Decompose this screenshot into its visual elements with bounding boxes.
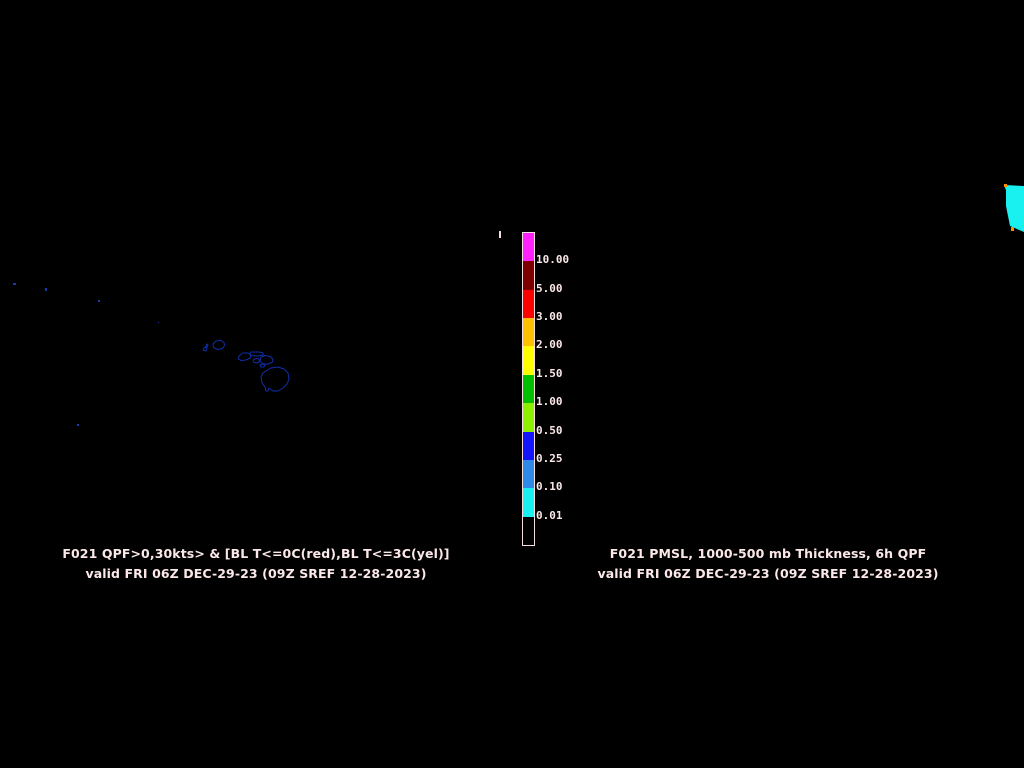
coastline-map-left [0,0,512,768]
colorbar-tick-3.00: 3.00 [536,311,563,322]
colorbar-band-0.25 [523,432,534,460]
colorbar-tick-0.01: 0.01 [536,510,563,521]
caption-left-line1: F021 QPF>0,30kts> & [BL T<=0C(red),BL T<… [0,544,512,564]
colorbar-tick-0.10: 0.10 [536,481,563,492]
colorbar-tick-0.50: 0.50 [536,425,563,436]
caption-right: F021 PMSL, 1000-500 mb Thickness, 6h QPF… [512,544,1024,584]
colorbar-band-1.50 [523,346,534,374]
caption-right-line1: F021 PMSL, 1000-500 mb Thickness, 6h QPF [512,544,1024,564]
colorbar-tick-labels: 10.005.003.002.001.501.000.500.250.100.0… [536,232,636,546]
caption-left-line2: valid FRI 06Z DEC-29-23 (09Z SREF 12-28-… [0,564,512,584]
colorbar-band-0.10 [523,460,534,488]
colorbar-band-1.00 [523,375,534,403]
caption-right-line2: valid FRI 06Z DEC-29-23 (09Z SREF 12-28-… [512,564,1024,584]
colorbar-band-10.00 [523,233,534,261]
islet-dots-left [13,283,159,426]
colorbar-tick-5.00: 5.00 [536,283,563,294]
colorbar-top-tick [499,231,501,238]
colorbar-band-below-threshold [523,517,534,545]
colorbar-band-2.00 [523,318,534,346]
colorbar-bands[interactable] [522,232,535,546]
qpf-colorbar[interactable]: 10.005.003.002.001.501.000.500.250.100.0… [522,232,642,548]
caption-left: F021 QPF>0,30kts> & [BL T<=0C(red),BL T<… [0,544,512,584]
colorbar-band-0.01 [523,488,534,516]
colorbar-tick-1.50: 1.50 [536,368,563,379]
colorbar-tick-0.25: 0.25 [536,453,563,464]
colorbar-band-5.00 [523,261,534,289]
colorbar-band-3.00 [523,290,534,318]
colorbar-tick-2.00: 2.00 [536,339,563,350]
colorbar-tick-10.00: 10.00 [536,254,569,265]
colorbar-band-0.50 [523,403,534,431]
map-panel-left[interactable] [0,0,512,768]
weather-map-screen: 10.005.003.002.001.501.000.500.250.100.0… [0,0,1024,768]
colorbar-tick-1.00: 1.00 [536,396,563,407]
